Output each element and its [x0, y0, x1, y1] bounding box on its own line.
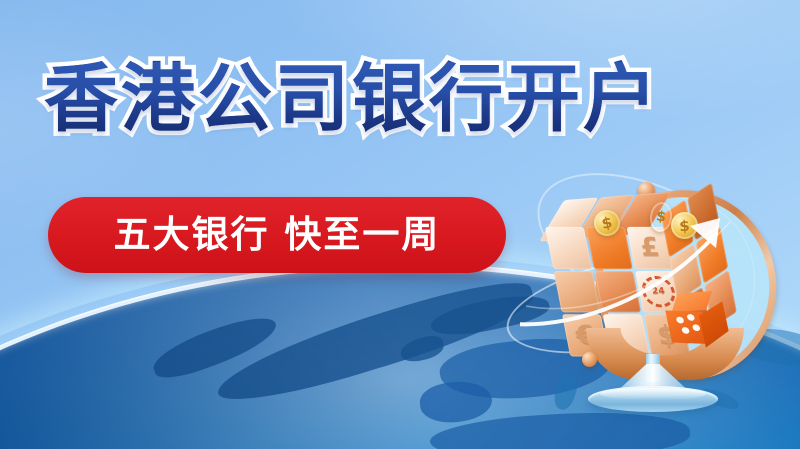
globe-stand-knob-icon — [582, 352, 597, 367]
status-badge: 五大银行 快至一周 — [48, 197, 506, 273]
cube-tile — [545, 227, 592, 269]
cube-tile — [594, 271, 641, 313]
cube-tile — [554, 271, 601, 313]
globe-currency-cube-illustration: £ 24 € $ — [520, 178, 800, 408]
pound-symbol-icon: £ — [638, 233, 662, 262]
detached-cube-icon — [660, 284, 734, 358]
page-title: 香港公司银行开户 — [44, 62, 774, 136]
globe-stand-base-highlight — [600, 388, 706, 400]
promo-banner: 香港公司银行开户 香港公司银行开户 五大银行 快至一周 £ — [0, 0, 800, 449]
status-badge-label: 五大银行 快至一周 — [114, 216, 441, 253]
